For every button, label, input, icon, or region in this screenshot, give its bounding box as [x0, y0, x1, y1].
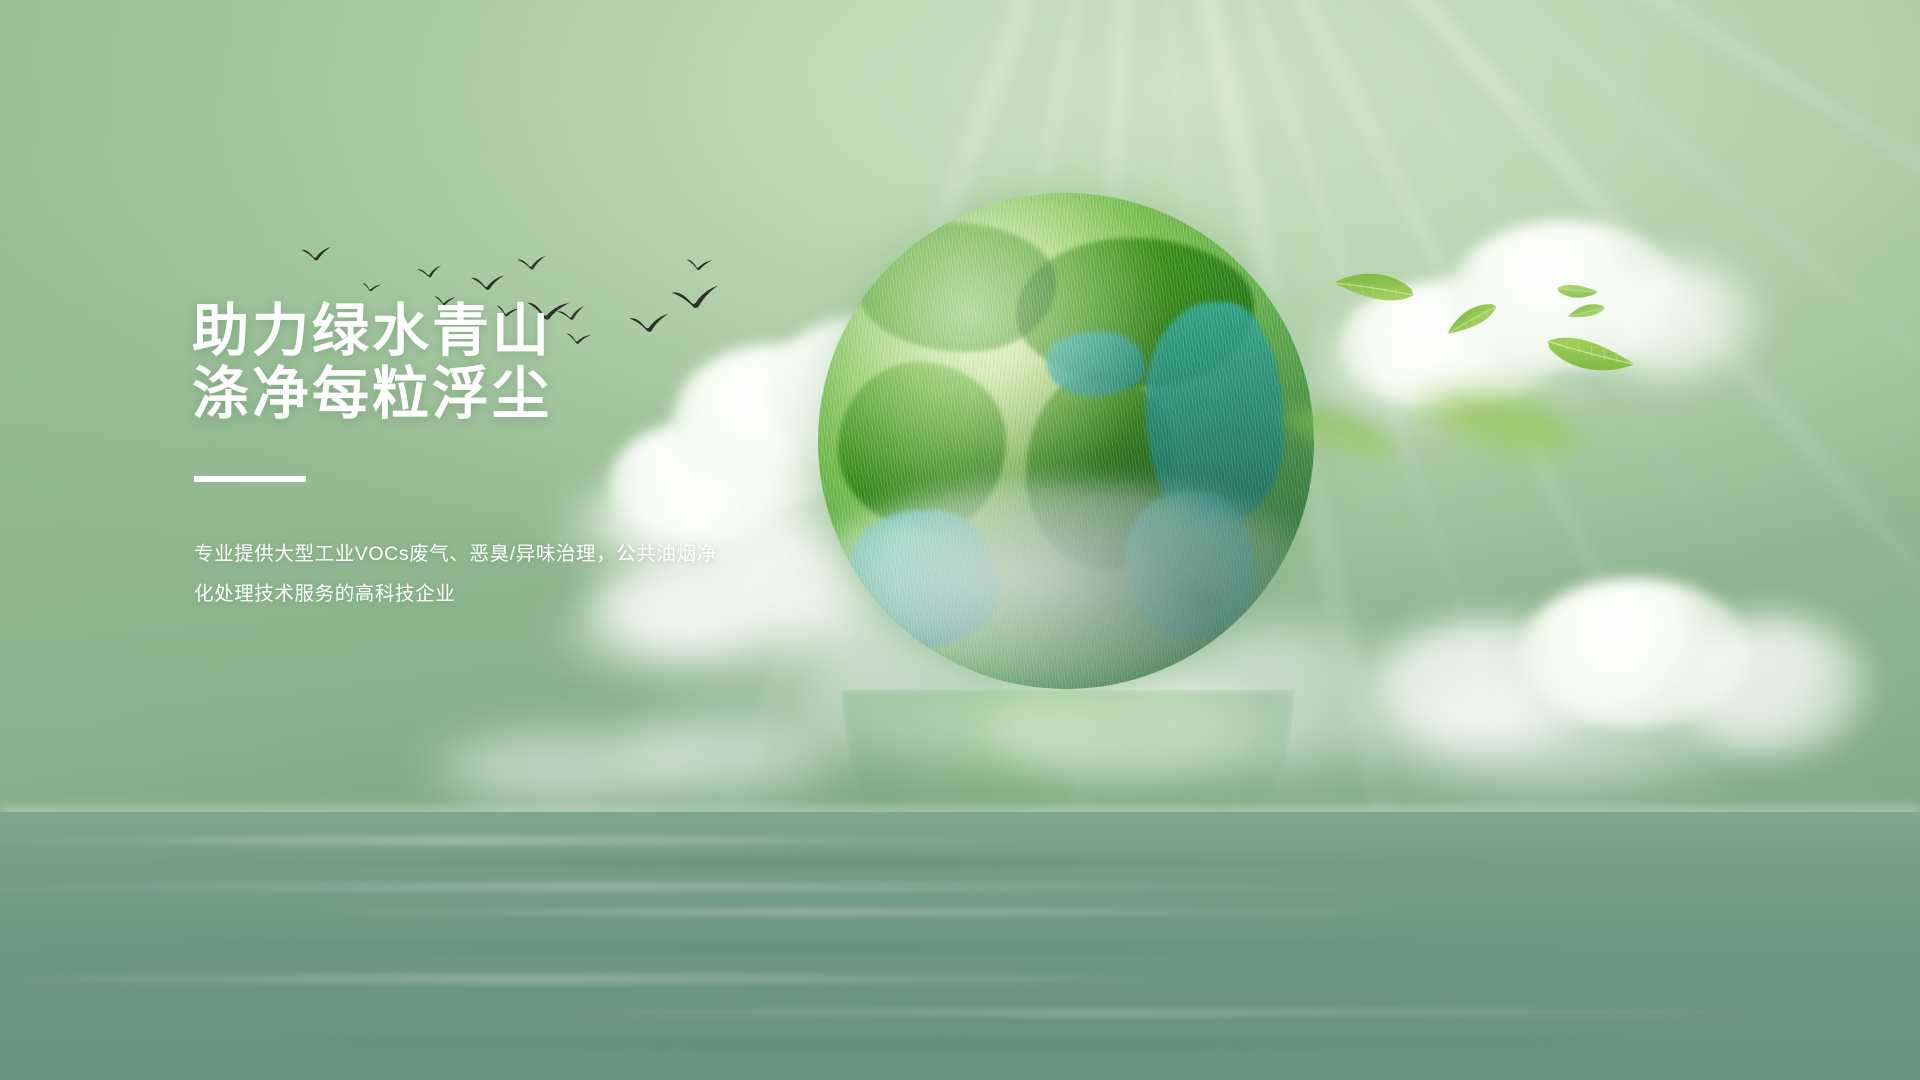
earth-globe [818, 193, 1314, 689]
headline-divider [194, 476, 306, 482]
bird-7-icon [516, 255, 550, 275]
bird-5-icon [470, 274, 508, 295]
hero-subcopy: 专业提供大型工业VOCs废气、恶臭/异味治理，公共油烟净 化处理技术服务的高科技… [194, 534, 734, 614]
hero-copy: 助力绿水青山 涤净每粒浮尘 专业提供大型工业VOCs废气、恶臭/异味治理，公共油… [192, 300, 892, 614]
headline-line-2: 涤净每粒浮尘 [192, 363, 892, 426]
bird-13-icon [685, 258, 715, 274]
headline-line-1: 助力绿水青山 [192, 300, 892, 363]
globe-shading [818, 193, 1314, 689]
subcopy-line-1: 专业提供大型工业VOCs废气、恶臭/异味治理，公共油烟净 [194, 534, 734, 574]
bird-2-icon [361, 282, 383, 295]
bird-1-icon [300, 246, 335, 265]
hero-banner: 助力绿水青山 涤净每粒浮尘 专业提供大型工业VOCs废气、恶臭/异味治理，公共油… [0, 0, 1920, 1080]
globe-sphere [818, 193, 1314, 689]
water-surface [0, 812, 1920, 1080]
subcopy-line-2: 化处理技术服务的高科技企业 [194, 574, 734, 614]
